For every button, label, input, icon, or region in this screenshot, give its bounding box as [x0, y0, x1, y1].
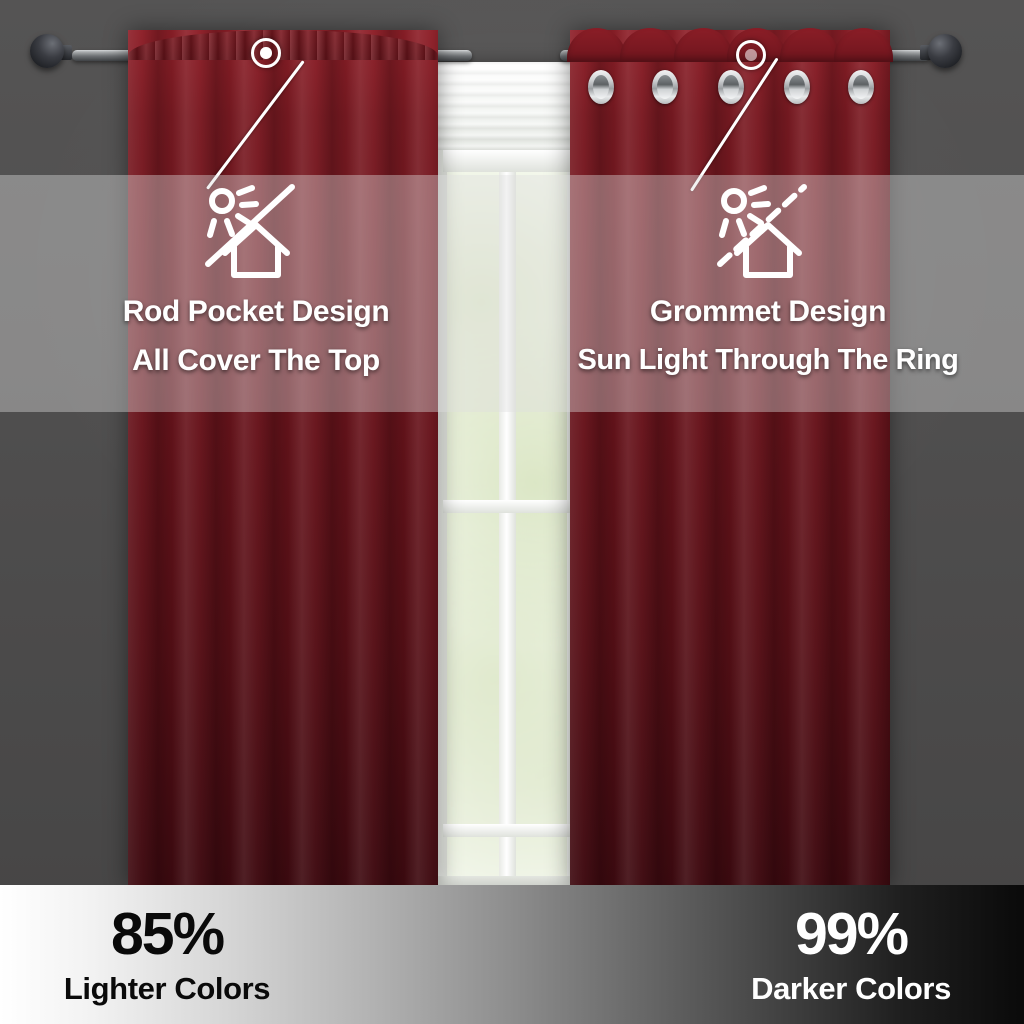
- stat-value: 85%: [111, 905, 223, 964]
- feature-title: Rod Pocket Design: [123, 297, 390, 327]
- sun-through-house-icon: [712, 181, 824, 285]
- stat-label: Darker Colors: [751, 973, 951, 1004]
- feature-text-grommet: Grommet Design Sun Light Through The Rin…: [577, 285, 958, 375]
- grommet-scallop-top: [570, 28, 890, 62]
- sun-blocked-house-icon: [200, 181, 312, 285]
- ball-finial-right: [920, 34, 962, 76]
- grommet-callout-marker: [736, 40, 766, 70]
- feature-overlay-band: Rod Pocket Design All Cover The Top: [0, 175, 1024, 412]
- stat-lighter-colors: 85% Lighter Colors: [0, 885, 512, 1024]
- grommet-ring: [652, 70, 678, 104]
- feature-grommet: Grommet Design Sun Light Through The Rin…: [512, 175, 1024, 412]
- scallop: [834, 28, 893, 62]
- stat-banner: 85% Lighter Colors 99% Darker Colors: [0, 885, 1024, 1024]
- feature-title: Grommet Design: [577, 297, 958, 327]
- curtain-panel-rod-pocket: [128, 30, 438, 888]
- curtain-panel-grommet: [570, 30, 890, 888]
- ball-finial-left: [30, 34, 72, 76]
- feature-rod-pocket: Rod Pocket Design All Cover The Top: [0, 175, 512, 412]
- rod-pocket-top: [128, 30, 438, 60]
- window-mullion-lower: [443, 824, 571, 837]
- feature-subtitle: Sun Light Through The Ring: [577, 346, 958, 375]
- rod-pocket-callout-marker: [251, 38, 281, 68]
- window-mullion-middle: [443, 500, 571, 513]
- grommet-ring: [784, 70, 810, 104]
- stat-value: 99%: [795, 905, 907, 964]
- grommet-ring: [848, 70, 874, 104]
- grommet-ring: [718, 70, 744, 104]
- scallop: [780, 28, 839, 62]
- window-mullion-top: [443, 150, 571, 172]
- stat-label: Lighter Colors: [64, 973, 270, 1004]
- feature-text-rod-pocket: Rod Pocket Design All Cover The Top: [123, 285, 390, 376]
- grommet-ring-row: [570, 70, 890, 104]
- scallop: [620, 28, 679, 62]
- stat-darker-colors: 99% Darker Colors: [512, 885, 1024, 1024]
- finial-ball: [928, 34, 962, 68]
- finial-ball: [30, 34, 64, 68]
- scallop: [674, 28, 733, 62]
- product-infographic: Rod Pocket Design All Cover The Top: [0, 0, 1024, 1024]
- scallop: [567, 28, 626, 62]
- feature-subtitle: All Cover The Top: [123, 346, 390, 376]
- window-valance: [437, 62, 577, 154]
- grommet-ring: [588, 70, 614, 104]
